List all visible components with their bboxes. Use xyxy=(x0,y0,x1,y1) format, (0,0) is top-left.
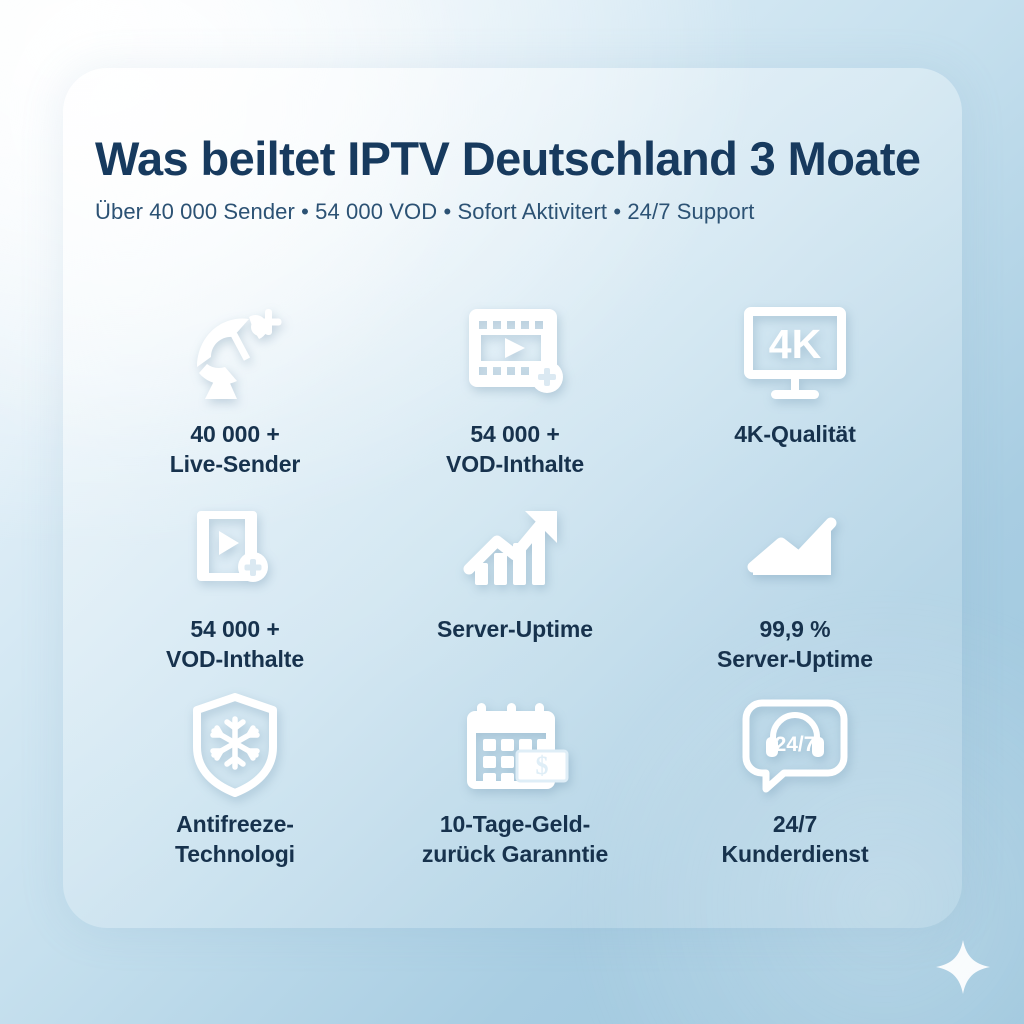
film-strip-play-plus-icon xyxy=(187,495,283,605)
feature-item-server-uptime-999: 99,9 % Server-Uptime xyxy=(655,495,935,690)
shield-snowflake-icon xyxy=(185,690,285,800)
satellite-dish-plus-icon xyxy=(181,300,289,410)
feature-value: 99,9 % xyxy=(717,615,873,645)
calendar-money-icon: $ xyxy=(459,690,571,800)
feature-label: Server-Uptime xyxy=(437,615,593,645)
film-strip-play-plus-icon xyxy=(459,300,571,410)
feature-item-4k-qualitaet: 4K 4K-Qualität xyxy=(655,300,935,495)
feature-value: 54 000 + xyxy=(446,420,584,450)
feature-value: 40 000 + xyxy=(170,420,301,450)
feature-label: Live-Sender xyxy=(170,450,301,480)
feature-text: Server-Uptime xyxy=(437,615,593,645)
feature-text: 40 000 + Live-Sender xyxy=(170,420,301,480)
feature-label: Server-Uptime xyxy=(717,645,873,675)
feature-item-live-sender: 40 000 + Live-Sender xyxy=(95,300,375,495)
dollar-sign-text: $ xyxy=(536,751,549,780)
feature-item-antifreeze: Antifreeze- Technologi xyxy=(95,690,375,885)
feature-item-vod-inhalte-mid: 54 000 + VOD-Inthalte xyxy=(95,495,375,690)
header: Was beiltet IPTV Deutschland 3 Moate Übe… xyxy=(95,134,1024,225)
feature-item-money-back: $ 10-Tage-Geld- zurück Garanntie xyxy=(375,690,655,885)
support-headset-bubble-icon: 24/7 xyxy=(740,690,850,800)
feature-label: VOD-Inthalte xyxy=(446,450,584,480)
tv-4k-text: 4K xyxy=(769,321,822,367)
feature-grid: 40 000 + Live-Sender 54 000 + VOD-Inthal… xyxy=(95,300,935,885)
feature-item-vod-inhalte-top: 54 000 + VOD-Inthalte xyxy=(375,300,655,495)
feature-label: Kunderdienst xyxy=(721,840,868,870)
feature-text: 99,9 % Server-Uptime xyxy=(717,615,873,675)
page-subtitle: Über 40 000 Sender • 54 000 VOD • Sofort… xyxy=(95,199,1024,225)
tv-4k-icon: 4K xyxy=(736,300,854,410)
feature-label: zurück Garanntie xyxy=(422,840,608,870)
feature-text: Antifreeze- Technologi xyxy=(175,810,295,870)
sparkle-icon xyxy=(934,938,992,1001)
feature-label: Technologi xyxy=(175,840,295,870)
page-title: Was beiltet IPTV Deutschland 3 Moate xyxy=(95,134,1024,185)
feature-item-server-uptime-mid: Server-Uptime xyxy=(375,495,655,690)
feature-label: 4K-Qualität xyxy=(734,420,856,450)
feature-text: 4K-Qualität xyxy=(734,420,856,450)
feature-item-support: 24/7 24/7 Kunderdienst xyxy=(655,690,935,885)
feature-text: 24/7 Kunderdienst xyxy=(721,810,868,870)
feature-value: 24/7 xyxy=(721,810,868,840)
feature-value: Antifreeze- xyxy=(175,810,295,840)
feature-value: 10-Tage-Geld- xyxy=(422,810,608,840)
feature-text: 54 000 + VOD-Inthalte xyxy=(446,420,584,480)
feature-value: 54 000 + xyxy=(166,615,304,645)
feature-text: 54 000 + VOD-Inthalte xyxy=(166,615,304,675)
support-247-text: 24/7 xyxy=(775,733,816,756)
feature-label: VOD-Inthalte xyxy=(166,645,304,675)
area-chart-icon xyxy=(747,495,843,605)
bar-chart-arrow-up-icon xyxy=(463,495,567,605)
feature-text: 10-Tage-Geld- zurück Garanntie xyxy=(422,810,608,870)
